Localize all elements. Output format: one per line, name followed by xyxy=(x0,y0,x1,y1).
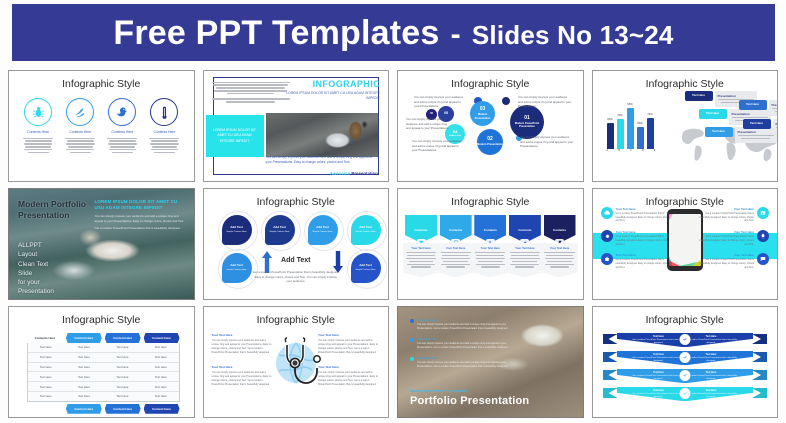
slide-18-bubble-5: Add Text Simple Content Here xyxy=(222,253,252,283)
slide-23-bullet-3: Your Text HereYou can simply impress you… xyxy=(410,356,514,369)
slide-16-callout-4-desc: Presentation xyxy=(769,100,779,116)
chat-icon xyxy=(757,253,769,265)
ribbon-wing-right xyxy=(752,388,767,398)
bar-b-value: 70% xyxy=(617,113,623,117)
header-banner: Free PPT Templates - Slides No 13~24 xyxy=(12,4,775,61)
slide-14-cyan-text: LOREM IPSUM DOLOR SIT AMET CU USU AGAM I… xyxy=(206,128,264,144)
table-footer-cell-2[interactable]: Content Here xyxy=(105,404,141,414)
slide-14-subheading: LOREM IPSUM DOLOR SIT AMET CU USU AGAM I… xyxy=(285,91,380,101)
slide-20-right-item-1-head: Your Text Here xyxy=(695,207,754,211)
slide-20-left-items: Your Text HereGet a modern PowerPoint Pr… xyxy=(601,207,675,276)
slide-17-body-5: for your xyxy=(18,278,54,287)
slide-15-note-3: You can simply impress your audience and… xyxy=(406,117,452,131)
slide-17-body-3: Clean Text xyxy=(18,260,54,269)
slide-17-right-block: LOREM IPSUM DOLOR SIT AMET CU USU AGAM I… xyxy=(95,199,187,231)
table-footer-cell-3[interactable]: Content Here xyxy=(144,404,180,414)
ribbon-wing-right xyxy=(752,352,767,362)
ribbon-wing-left xyxy=(603,334,618,344)
table-row: Text Here Text Here Text Here Text Here xyxy=(28,353,179,363)
slide-22-item-2-body: You can simply impress your audience and… xyxy=(318,339,380,355)
slide-19-title: Infographic Style xyxy=(398,196,583,208)
slide-16-title: Infographic Style xyxy=(593,78,778,90)
slide-24-ribbon-1-right-body: Get a modern PowerPoint Presentation tha… xyxy=(683,339,739,345)
slide-20-right-item-3: Your Text HereGet a modern PowerPoint Pr… xyxy=(695,253,769,269)
slide-thumbnail-20[interactable]: Infographic Style Your Text HereGet a mo… xyxy=(592,188,779,300)
slide-14-heading: INFOGRAPHIC xyxy=(285,79,380,89)
rocket-icon xyxy=(757,230,769,242)
cloud-icon xyxy=(601,207,613,219)
slide-14-heading-block: INFOGRAPHIC LOREM IPSUM DOLOR SIT AMET C… xyxy=(285,79,380,101)
table-row: Text Here Text Here Text Here Text Here xyxy=(28,382,179,392)
slide-15-dot-b xyxy=(502,97,510,105)
bar-a-value: 60% xyxy=(607,117,613,121)
slide-thumbnail-14[interactable]: INFOGRAPHIC LOREM IPSUM DOLOR SIT AMET C… xyxy=(203,70,390,182)
slide-22-item-3: Your Text Here You can simply impress yo… xyxy=(212,365,274,387)
data-table: Contents Here Content Here Content Here … xyxy=(27,333,180,407)
slide-22-item-1-head: Your Text Here xyxy=(212,333,274,337)
slide-18-bubble-3-label: Add Text xyxy=(316,226,329,229)
slide-15-note-2: You can simply impress your audience and… xyxy=(518,95,572,109)
slide-13-icon-row: Contents Here Contents Here xyxy=(9,98,194,155)
bar-c-value: 95% xyxy=(627,102,633,106)
table-cell: Text Here xyxy=(143,343,178,352)
slide-20-right-item-1: Your Text HereGet a modern PowerPoint Pr… xyxy=(695,207,769,223)
slide-16-callout-5-head: Presentation xyxy=(776,122,779,126)
slide-22-item-4-head: Your Text Here xyxy=(318,365,380,369)
slide-15-bubble-3: 03 Modern Presentation xyxy=(470,101,495,126)
ribbon-wing-right xyxy=(752,370,767,380)
slide-17-title-line2: Presentation xyxy=(18,210,86,221)
bar-chart: 60% 70% 95% 50% 72% xyxy=(607,105,654,149)
slide-20-left-item-3: Your Text HereGet a modern PowerPoint Pr… xyxy=(601,253,675,269)
slide-19-column-1: Contents Your Text Here xyxy=(405,215,437,277)
slide-15-bubble-3-label: Modern Presentation xyxy=(470,113,495,119)
slide-18-bubble-3-sub: Simple Content Here xyxy=(312,231,332,234)
slide-17-body-1: ALLPPT xyxy=(18,241,54,250)
slide-19-column-5: Contents Your Text Here xyxy=(544,215,576,277)
slide-20-right-item-3-head: Your Text Here xyxy=(695,253,754,257)
slide-18-add-text-block: Add Text Get a modern PowerPoint Present… xyxy=(253,249,339,284)
table-cell: Text Here xyxy=(28,392,63,401)
table-cell: Text Here xyxy=(28,382,63,391)
table-cell: Text Here xyxy=(28,353,63,362)
slide-23-bullet-1-body: You can simply impress your audience and… xyxy=(417,323,514,331)
slide-thumbnail-16[interactable]: Infographic Style 60% 70% 95% 50% 72% A … xyxy=(592,70,779,182)
slide-20-right-item-2-body: Get a modern PowerPoint Presentation tha… xyxy=(695,235,754,246)
slide-23-bullet-3-head: Your Text Here xyxy=(417,356,514,360)
bar-chart-x-axis: A B C D E xyxy=(607,149,656,152)
check-icon xyxy=(678,333,691,346)
slide-17-body-6: Presentation xyxy=(18,287,54,296)
slide-19-column-4-sub: Your Text Here xyxy=(509,246,541,250)
slide-thumbnail-19[interactable]: Infographic Style Contents Your Text Her… xyxy=(397,188,584,300)
slide-20-left-item-3-body: Get a modern PowerPoint Presentation tha… xyxy=(616,258,675,269)
bar-c: 95% xyxy=(627,108,634,149)
bullet-dot-icon xyxy=(410,357,414,361)
slide-thumbnail-22[interactable]: Infographic Style Your Text Here You can… xyxy=(203,306,390,418)
slide-18-bubble-4-label: Add Text xyxy=(359,226,372,229)
slide-19-column-1-sub: Your Text Here xyxy=(405,246,437,250)
table-cell: Text Here xyxy=(105,372,140,381)
slide-14-cyan-box: LOREM IPSUM DOLOR SIT AMET CU USU AGAM I… xyxy=(206,115,264,157)
slide-14-footer: Awesome Presentation xyxy=(330,171,378,176)
slide-15-bubble-3-num: 03 xyxy=(480,107,486,112)
bird-icon xyxy=(66,98,94,126)
table-cell: Text Here xyxy=(143,363,178,372)
table-cell: Text Here xyxy=(28,372,63,381)
slide-16-callout-5-desc: Presentation xyxy=(773,119,779,135)
ribbon-wing-left xyxy=(603,352,618,362)
slide-15-bubble-4-num: 04 xyxy=(453,130,457,134)
slide-14-footer-a: Awesome xyxy=(330,171,350,176)
slide-16-callout-4-head: Presentation xyxy=(772,103,779,107)
slide-24-ribbon-4: Text HereGet a modern PowerPoint Present… xyxy=(603,387,768,401)
ribbon-wing-left xyxy=(603,388,618,398)
slide-18-bubble-2-sub: Simple Content Here xyxy=(269,231,289,234)
slide-18-add-text-body: Get a modern PowerPoint Presentation tha… xyxy=(253,270,339,284)
ribbon-wing-left xyxy=(603,370,618,380)
slide-18-bubble-2: Add Text Simple Content Here xyxy=(265,215,295,245)
slide-19-column-5-head: Contents xyxy=(553,228,566,232)
slide-24-ribbon-2-right-head: Text Here xyxy=(683,353,739,356)
table-cell: Text Here xyxy=(66,382,101,391)
slide-22-item-4: Your Text Here You can simply impress yo… xyxy=(318,365,380,387)
table-header-cell-2[interactable]: Content Here xyxy=(66,333,102,343)
slide-19-column-5-sub: Your Text Here xyxy=(544,246,576,250)
slide-thumbnail-13[interactable]: Infographic Style Contents Here xyxy=(8,70,195,182)
table-cell: Text Here xyxy=(143,392,178,401)
check-icon xyxy=(678,351,691,364)
page-root: Free PPT Templates - Slides No 13~24 Inf… xyxy=(0,0,786,423)
slide-23-bullet-1: Your Text HereYou can simply impress you… xyxy=(410,318,514,331)
slide-15-bubble-1-label: Modern PowerPoint Presentation xyxy=(510,122,544,128)
table-cell: Text Here xyxy=(66,363,101,372)
bag-icon xyxy=(601,253,613,265)
slide-17-right-body: You can simply impress your audience and… xyxy=(95,214,187,223)
slide-22-title: Infographic Style xyxy=(204,314,389,326)
slide-16-callout-1-head: Presentation xyxy=(718,94,754,98)
table-cell: Text Here xyxy=(66,353,101,362)
table-cell: Text Here xyxy=(143,372,178,381)
duck-icon xyxy=(108,98,136,126)
page-title-separator: - xyxy=(449,18,463,51)
slide-thumbnail-18[interactable]: Infographic Style Add Text Simple Conten… xyxy=(203,188,390,300)
slide-19-column-2-head-wrap: Contents xyxy=(440,215,472,243)
ribbon-wing-right xyxy=(752,334,767,344)
bar-d: 50% xyxy=(637,127,644,149)
table-header-cell-3[interactable]: Content Here xyxy=(105,333,141,343)
slide-24-ribbon-1-right-head: Text Here xyxy=(683,335,739,338)
slide-19-column-2-sub: Your Text Here xyxy=(440,246,472,250)
slide-22-item-4-body: You can simply impress your audience and… xyxy=(318,371,380,387)
slide-13-body-1 xyxy=(23,136,53,155)
slide-17-title-line1: Modern Portfolio xyxy=(18,199,86,210)
slide-22-item-2: Your Text Here You can simply impress yo… xyxy=(318,333,380,355)
slide-thumbnail-15[interactable]: Infographic Style 01 Modern PowerPoint P… xyxy=(397,70,584,182)
slide-19-column-2: Contents Your Text Here xyxy=(440,215,472,277)
slide-19-column-2-head: Contents xyxy=(449,228,462,232)
table-cell: Text Here xyxy=(143,382,178,391)
slide-15-bubble-6-num: 06 xyxy=(430,113,433,116)
slide-23-bullet-2-body: You can simply impress your audience and… xyxy=(417,342,514,350)
slide-15-bubble-4-label: Modern Text xyxy=(449,135,461,138)
slide-22-item-1: Your Text Here You can simply impress yo… xyxy=(212,333,274,355)
table-cell: Text Here xyxy=(28,343,63,352)
slide-thumbnail-grid: Infographic Style Contents Here xyxy=(8,70,778,418)
slide-thumbnail-23[interactable]: Your Text HereYou can simply impress you… xyxy=(397,306,584,418)
slide-20-right-item-3-body: Get a modern PowerPoint Presentation tha… xyxy=(695,258,754,269)
slide-18-bubble-6: Add Text Simple Content Here xyxy=(351,253,381,283)
slide-15-note-4: You can simply impress your audience and… xyxy=(520,135,574,149)
table-footer-row: Content Here Content Here Content Here xyxy=(27,404,180,414)
slide-18-bubble-5-label: Add Text xyxy=(230,264,243,267)
slide-18-bubble-1-sub: Simple Content Here xyxy=(226,231,246,234)
slide-23-bullet-list: Your Text HereYou can simply impress you… xyxy=(410,318,514,375)
slide-thumbnail-24[interactable]: Infographic Style Text HereGet a modern … xyxy=(592,306,779,418)
slide-23-bullet-3-body: You can simply impress your audience and… xyxy=(417,361,514,369)
slide-15-bubble-1: 01 Modern PowerPoint Presentation xyxy=(510,105,544,139)
slide-18-bubble-4: Add Text Simple Content Here xyxy=(351,215,381,245)
slide-20-right-items: Your Text HereGet a modern PowerPoint Pr… xyxy=(695,207,769,276)
slide-19-column-row: Contents Your Text Here Contents xyxy=(405,215,576,277)
slide-13-item-2: Contents Here xyxy=(62,98,98,155)
slide-24-ribbon-2: Text HereGet a modern PowerPoint Present… xyxy=(603,351,768,365)
slide-18-bubble-4-sub: Simple Content Here xyxy=(355,231,375,234)
bullet-dot-icon xyxy=(410,319,414,323)
bug-icon xyxy=(24,98,52,126)
slide-16-callout-4: Text Here Presentation xyxy=(739,100,779,116)
slide-21-title: Infographic Style xyxy=(9,314,194,326)
table-row: Text Here Text Here Text Here Text Here xyxy=(28,372,179,382)
slide-17-body-4: Slide xyxy=(18,269,54,278)
slide-16-callout-3-tag: Text Here xyxy=(705,127,733,137)
slide-24-ribbon-4-right: Text HereGet a modern PowerPoint Present… xyxy=(683,389,739,398)
canada-goose-photo xyxy=(266,113,379,157)
slide-19-column-1-head: Contents xyxy=(415,228,428,232)
table-cell: Text Here xyxy=(66,372,101,381)
slide-20-right-item-1-body: Get a modern PowerPoint Presentation tha… xyxy=(695,212,754,223)
slide-20-left-item-2: Your Text HereGet a modern PowerPoint Pr… xyxy=(601,230,675,246)
slide-15-bubble-5-num: 05 xyxy=(444,112,448,115)
page-title-tail: Slides No 13~24 xyxy=(472,20,674,50)
slide-13-item-1: Contents Here xyxy=(20,98,56,155)
slide-23-eyebrow: Modern PowerPoint Presentation xyxy=(410,389,529,393)
table-header-cell-4[interactable]: Content Here xyxy=(144,333,180,343)
slide-19-column-4: Contents Your Text Here xyxy=(509,215,541,277)
x-tick-b: B xyxy=(618,149,620,152)
slide-23-bullet-2: Your Text HereYou can simply impress you… xyxy=(410,337,514,350)
slide-16-callout-5-tag: Text Here xyxy=(743,119,771,129)
slide-23-bullet-2-head: Your Text Here xyxy=(417,337,514,341)
slide-13-caption-4: Contents Here xyxy=(154,130,176,134)
slide-24-ribbon-1-right: Text HereGet a modern PowerPoint Present… xyxy=(683,335,739,344)
slide-24-ribbon-3-right-body: Get a modern PowerPoint Presentation tha… xyxy=(683,375,739,381)
slide-18-bubble-6-label: Add Text xyxy=(359,264,372,267)
slide-20-left-item-1-head: Your Text Here xyxy=(616,207,675,211)
table-header-row: Contents Here Content Here Content Here … xyxy=(27,333,180,343)
slide-19-column-2-body: Your Text Here xyxy=(438,243,474,277)
slide-15-bubble-2-num: 02 xyxy=(487,137,493,142)
check-icon xyxy=(678,387,691,400)
slide-19-column-3: Contents Your Text Here xyxy=(474,215,506,277)
slide-20-right-item-2: Your Text HereGet a modern PowerPoint Pr… xyxy=(695,230,769,246)
slide-24-ribbon-2-right-body: Get a modern PowerPoint Presentation tha… xyxy=(683,357,739,363)
slide-15-note-1: You can simply impress your audience and… xyxy=(414,95,464,109)
slide-24-ribbon-3-right-head: Text Here xyxy=(683,371,739,374)
bar-a: 60% xyxy=(607,123,614,149)
table-cell: Text Here xyxy=(28,363,63,372)
slide-19-column-1-head-wrap: Contents xyxy=(405,215,437,243)
slide-15-note-5: You can simply impress your audience and… xyxy=(412,139,464,153)
slide-17-body: ALLPPT Layout Clean Text Slide for your … xyxy=(18,241,54,297)
slide-15-bubble-2-label: Modern Presentation xyxy=(477,143,503,146)
page-title: Free PPT Templates - Slides No 13~24 xyxy=(113,16,673,50)
table-body: Text Here Text Here Text Here Text Here … xyxy=(27,343,180,402)
slide-15-bubble-2: 02 Modern Presentation xyxy=(477,129,503,155)
slide-19-column-4-body: Your Text Here xyxy=(507,243,543,277)
page-title-lead: Free PPT Templates xyxy=(113,14,439,52)
slide-13-item-4: Contents Here xyxy=(146,98,182,155)
slide-14-footer-b: Presentation xyxy=(351,171,378,176)
slide-23-title: Portfolio Presentation xyxy=(410,395,529,407)
slide-14-lead-text xyxy=(212,80,290,104)
table-row: Text Here Text Here Text Here Text Here xyxy=(28,392,179,401)
slide-22-item-3-head: Your Text Here xyxy=(212,365,274,369)
slide-18-bubble-5-sub: Simple Content Here xyxy=(226,269,246,272)
slide-thumbnail-21[interactable]: Infographic Style Contents Here Content … xyxy=(8,306,195,418)
slide-23-bullet-1-head: Your Text Here xyxy=(417,318,514,322)
slide-24-ribbon-3-right: Text HereGet a modern PowerPoint Present… xyxy=(683,371,739,380)
x-tick-c: C xyxy=(630,149,632,152)
check-icon xyxy=(678,369,691,382)
table-cell: Text Here xyxy=(66,392,101,401)
bar-e: 72% xyxy=(647,118,654,149)
slide-13-body-3 xyxy=(107,136,137,155)
bar-e-value: 72% xyxy=(647,112,653,116)
table-cell: Text Here xyxy=(105,392,140,401)
table-cell: Text Here xyxy=(105,343,140,352)
slide-17-right-body2: Get a modern PowerPoint Presentation tha… xyxy=(95,226,187,231)
x-tick-d: D xyxy=(642,149,644,152)
x-tick-a: A xyxy=(607,149,609,152)
slide-16-callout-1-tag: Text Here xyxy=(685,91,713,101)
slide-24-ribbon-2-right: Text HereGet a modern PowerPoint Present… xyxy=(683,353,739,362)
slide-17-body-2: Layout xyxy=(18,250,54,259)
image-icon xyxy=(757,207,769,219)
slide-19-column-3-body: Your Text Here xyxy=(472,243,508,277)
slide-19-column-3-head: Contents xyxy=(484,228,497,232)
slide-20-left-item-1-body: Get a modern PowerPoint Presentation tha… xyxy=(616,212,675,223)
table-cell: Text Here xyxy=(105,353,140,362)
slide-13-caption-1: Contents Here xyxy=(27,130,49,134)
table-cell: Text Here xyxy=(105,363,140,372)
slide-thumbnail-17[interactable]: Modern Portfolio Presentation ALLPPT Lay… xyxy=(8,188,195,300)
slide-18-bubble-1: Add Text Simple Content Here xyxy=(222,215,252,245)
slide-13-caption-2: Contents Here xyxy=(69,130,91,134)
slide-16-callout-5: Text Here Presentation xyxy=(743,119,779,135)
slide-18-bubble-3: Add Text Simple Content Here xyxy=(308,215,338,245)
slide-19-column-3-sub: Your Text Here xyxy=(474,246,506,250)
slide-24-title: Infographic Style xyxy=(593,314,778,326)
bar-b: 70% xyxy=(617,119,624,149)
slide-15-title: Infographic Style xyxy=(398,78,583,90)
gear-icon xyxy=(601,230,613,242)
slide-17-right-heading: LOREM IPSUM DOLOR SIT AMET CU USU AGAM I… xyxy=(95,199,187,211)
table-row: Text Here Text Here Text Here Text Here xyxy=(28,343,179,353)
slide-13-item-3: Contents Here xyxy=(104,98,140,155)
bullet-dot-icon xyxy=(410,338,414,342)
table-cell: Text Here xyxy=(143,353,178,362)
slide-18-title: Infographic Style xyxy=(204,196,389,208)
slide-19-column-4-head: Contents xyxy=(518,228,531,232)
slide-24-ribbon-3: Text HereGet a modern PowerPoint Present… xyxy=(603,369,768,383)
slide-20-left-item-3-head: Your Text Here xyxy=(616,253,675,257)
slide-13-caption-3: Contents Here xyxy=(111,130,133,134)
slide-20-left-item-2-head: Your Text Here xyxy=(616,230,675,234)
slide-13-body-2 xyxy=(65,136,95,155)
slide-13-body-4 xyxy=(149,136,179,155)
slide-13-title: Infographic Style xyxy=(9,78,194,90)
slide-22-item-2-head: Your Text Here xyxy=(318,333,380,337)
slide-24-ribbon-4-right-body: Get a modern PowerPoint Presentation tha… xyxy=(683,393,739,399)
x-tick-e: E xyxy=(654,149,656,152)
slide-19-column-3-head-wrap: Contents xyxy=(474,215,506,243)
slide-19-column-5-body: Your Text Here xyxy=(542,243,578,277)
slide-17-title: Modern Portfolio Presentation xyxy=(18,199,86,221)
slide-22-item-3-body: You can simply impress your audience and… xyxy=(212,371,274,387)
table-header-cell-1: Contents Here xyxy=(27,333,63,343)
slide-20-left-item-2-body: Get a modern PowerPoint Presentation tha… xyxy=(616,235,675,246)
slide-20-left-item-1: Your Text HereGet a modern PowerPoint Pr… xyxy=(601,207,675,223)
slide-24-ribbon-1: Text HereGet a modern PowerPoint Present… xyxy=(603,333,768,347)
slide-23-title-block: Modern PowerPoint Presentation Portfolio… xyxy=(410,389,529,407)
slide-16-callout-4-tag: Text Here xyxy=(739,100,767,110)
slide-19-column-5-head-wrap: Contents xyxy=(544,215,576,243)
slide-24-ribbon-4-right-head: Text Here xyxy=(683,389,739,392)
table-row: Text Here Text Here Text Here Text Here xyxy=(28,363,179,373)
slide-24-ribbon-list: Text HereGet a modern PowerPoint Present… xyxy=(603,333,768,405)
slide-19-column-4-head-wrap: Contents xyxy=(509,215,541,243)
slide-18-add-text-heading: Add Text xyxy=(281,257,310,264)
slide-15-bubble-1-num: 01 xyxy=(524,116,530,121)
bar-d-value: 50% xyxy=(637,121,643,125)
slide-18-bubble-2-label: Add Text xyxy=(273,226,286,229)
thermometer-icon xyxy=(150,98,178,126)
slide-18-bubble-6-sub: Simple Content Here xyxy=(355,269,375,272)
table-cell: Text Here xyxy=(66,343,101,352)
slide-22-item-1-body: You can simply impress your audience and… xyxy=(212,339,274,355)
slide-19-column-1-body: Your Text Here xyxy=(403,243,439,277)
slide-20-right-item-2-head: Your Text Here xyxy=(695,230,754,234)
slide-16-callout-2-tag: Text Here xyxy=(699,109,727,119)
table-cell: Text Here xyxy=(105,382,140,391)
table-footer-cell-1[interactable]: Content Here xyxy=(66,404,102,414)
slide-18-bubble-1-label: Add Text xyxy=(230,226,243,229)
slide-14-caption: You can simply impress your audience and… xyxy=(266,155,379,165)
